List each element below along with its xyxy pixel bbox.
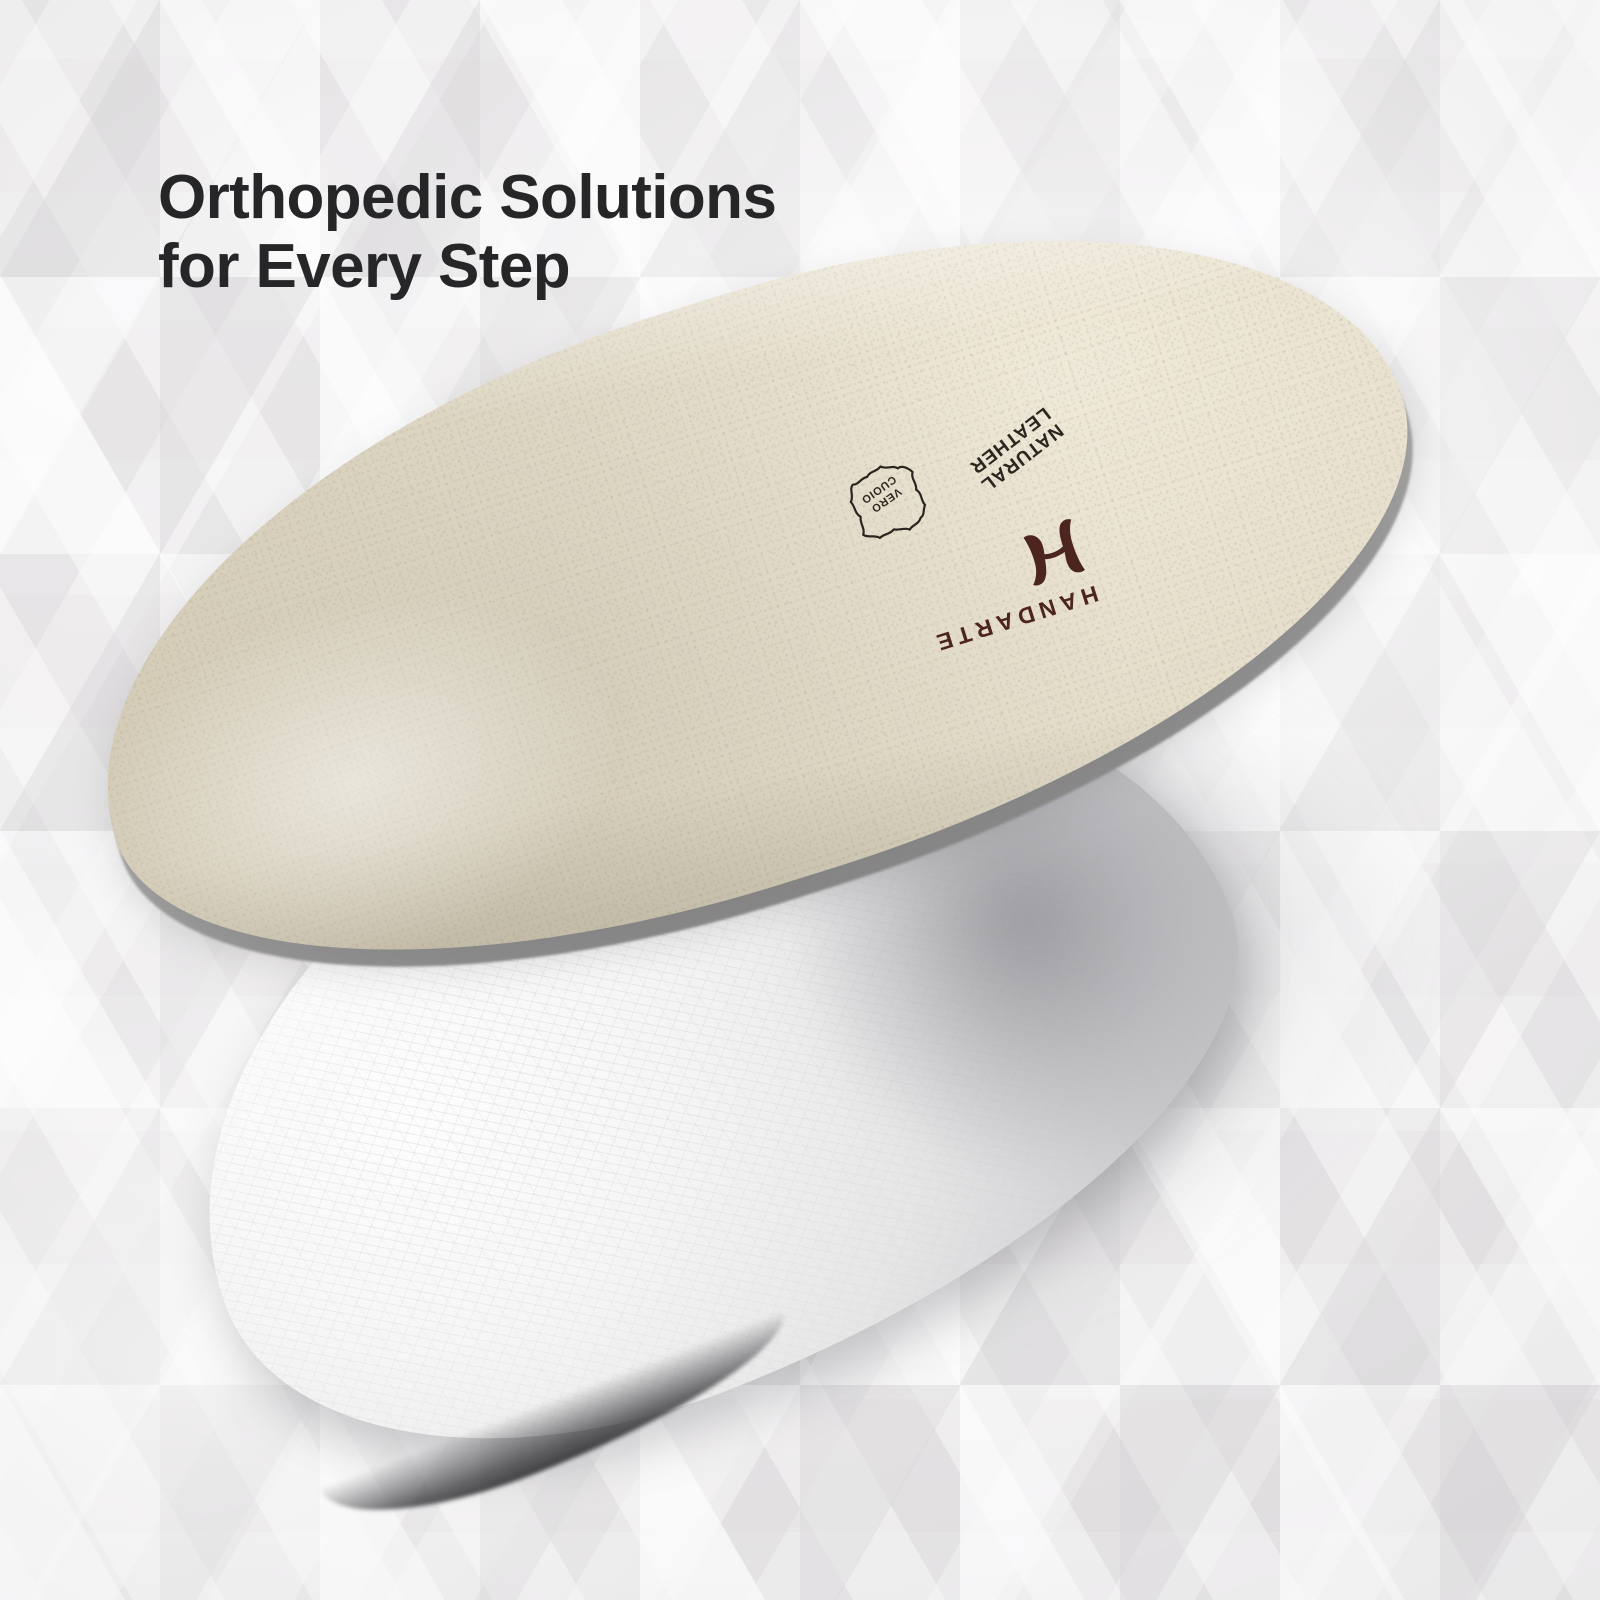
headline-line-2: for Every Step xyxy=(158,232,918,301)
poster-canvas: HANDARTE VERO CUOIO NATURAL LEATHER xyxy=(0,0,1600,1600)
headline-line-1: Orthopedic Solutions xyxy=(158,163,918,232)
page-title: Orthopedic Solutions for Every Step xyxy=(158,163,918,302)
leather-hide-icon: VERO CUOIO xyxy=(818,433,946,556)
natural-leather-stamp: NATURAL LEATHER xyxy=(963,402,1067,495)
